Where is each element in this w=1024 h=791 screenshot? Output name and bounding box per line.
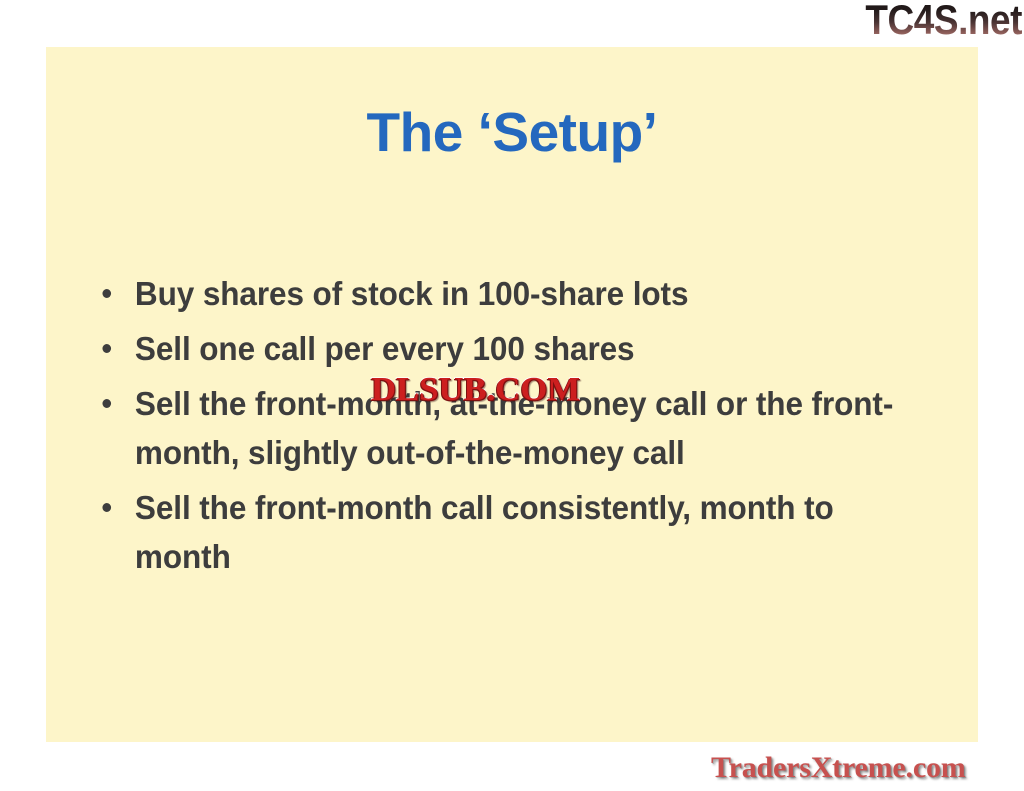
bullet-dot-icon bbox=[102, 289, 111, 298]
watermark-tc4s: TC4S.net bbox=[865, 0, 1022, 42]
bullet-item-text: Sell the front-month call consistently, … bbox=[135, 483, 931, 581]
bullet-dot-icon bbox=[102, 503, 111, 512]
bullet-item-1: Buy shares of stock in 100-share lots bbox=[91, 269, 931, 318]
bullet-item-text: Buy shares of stock in 100-share lots bbox=[135, 269, 931, 318]
bullet-dot-icon bbox=[102, 344, 111, 353]
watermark-dlsub: DLSUB.COM bbox=[371, 373, 580, 407]
bullet-item-2: Sell one call per every 100 shares bbox=[91, 324, 931, 373]
bullet-item-4: Sell the front-month call consistently, … bbox=[91, 483, 931, 581]
bullet-item-text: Sell one call per every 100 shares bbox=[135, 324, 931, 373]
watermark-tradersxtreme: TradersXtreme.com bbox=[711, 752, 966, 784]
slide-title: The ‘Setup’ bbox=[46, 104, 978, 162]
slide-canvas: The ‘Setup’ Buy shares of stock in 100-s… bbox=[0, 0, 1024, 791]
bullet-list: Buy shares of stock in 100-share lots Se… bbox=[91, 269, 971, 587]
bullet-dot-icon bbox=[102, 399, 111, 408]
